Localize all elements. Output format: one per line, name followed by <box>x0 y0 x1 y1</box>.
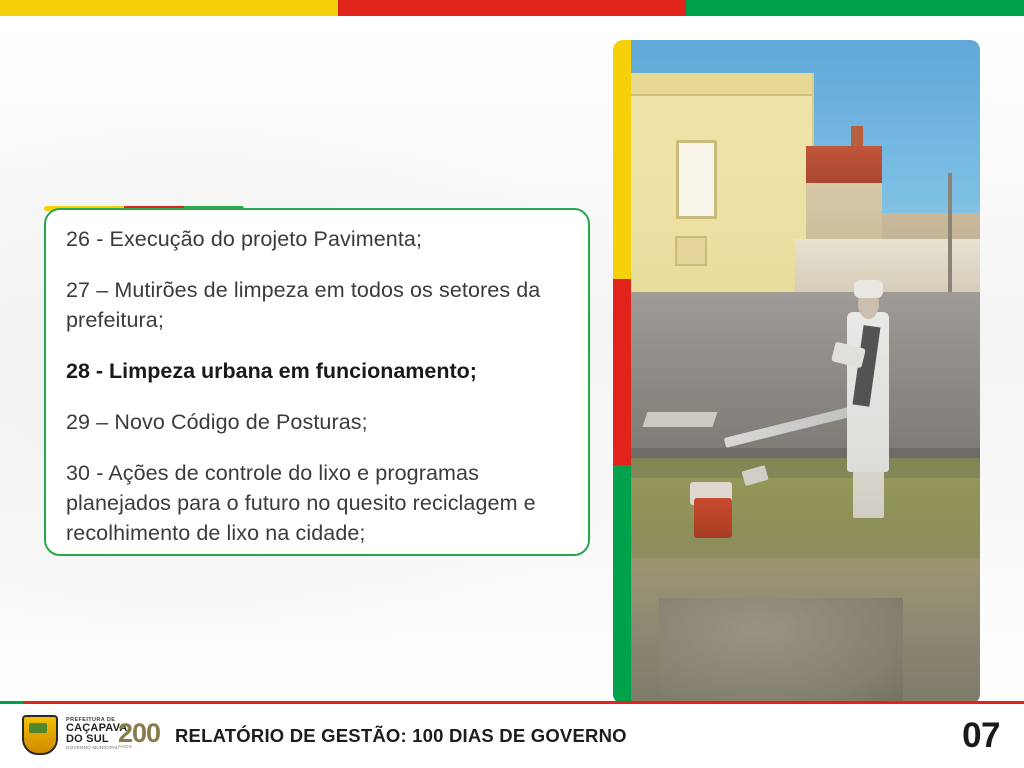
photo-worker-hat <box>854 280 884 297</box>
content-card: 26 - Execução do projeto Pavimenta; 27 –… <box>44 208 590 556</box>
topbar-yellow-segment <box>0 0 338 16</box>
photo-stripe-red <box>613 279 631 465</box>
photo-wall <box>795 239 980 292</box>
footer-accent-green <box>0 701 23 704</box>
photo-trimmer-engine <box>694 498 732 538</box>
photo-red-roof <box>806 146 883 186</box>
list-item: 26 - Execução do projeto Pavimenta; <box>66 224 570 254</box>
photo-image <box>631 40 980 704</box>
photo-block <box>613 40 980 704</box>
footer-accent-red <box>23 701 1024 704</box>
photo-building-roofline <box>631 73 812 96</box>
topbar-green-segment <box>686 0 1024 16</box>
list-item: 27 – Mutirões de limpeza em todos os set… <box>66 275 570 335</box>
crest-shield-shape <box>22 715 58 755</box>
photo-cut-grass <box>631 478 980 558</box>
photo-dirt-patch <box>659 598 903 704</box>
slide: 26 - Execução do projeto Pavimenta; 27 –… <box>0 0 1024 768</box>
photo-yellow-building <box>631 73 814 312</box>
list-item: 28 - Limpeza urbana em funcionamento; <box>66 356 570 386</box>
coat-of-arms-icon <box>18 712 58 756</box>
footer-accent-line <box>0 701 1024 704</box>
footer-title: RELATÓRIO DE GESTÃO: 100 DIAS DE GOVERNO <box>175 725 627 747</box>
topbar-red-segment <box>338 0 686 16</box>
photo-stripe-yellow <box>613 40 631 279</box>
list-item: 29 – Novo Código de Posturas; <box>66 407 570 437</box>
top-color-bar <box>0 0 1024 16</box>
footer-bar: PREFEITURA DE CAÇAPAVA DO SUL GOVERNO MU… <box>0 701 1024 768</box>
photo-building-lower-window <box>675 236 707 267</box>
photo-road <box>631 292 980 458</box>
city-brand: PREFEITURA DE CAÇAPAVA DO SUL GOVERNO MU… <box>18 712 128 756</box>
anniversary-logo: 200 ANOS <box>118 718 174 754</box>
content-card-list: 26 - Execução do projeto Pavimenta; 27 –… <box>66 224 570 548</box>
photo-crosswalk-stripe <box>643 412 718 427</box>
photo-building-window <box>676 140 717 219</box>
page-number: 07 <box>962 716 1000 756</box>
photo-utility-pole <box>948 173 952 293</box>
list-item: 30 - Ações de controle do lixo e program… <box>66 458 570 548</box>
photo-stripe-green <box>613 465 631 704</box>
photo-color-stripe <box>613 40 631 704</box>
